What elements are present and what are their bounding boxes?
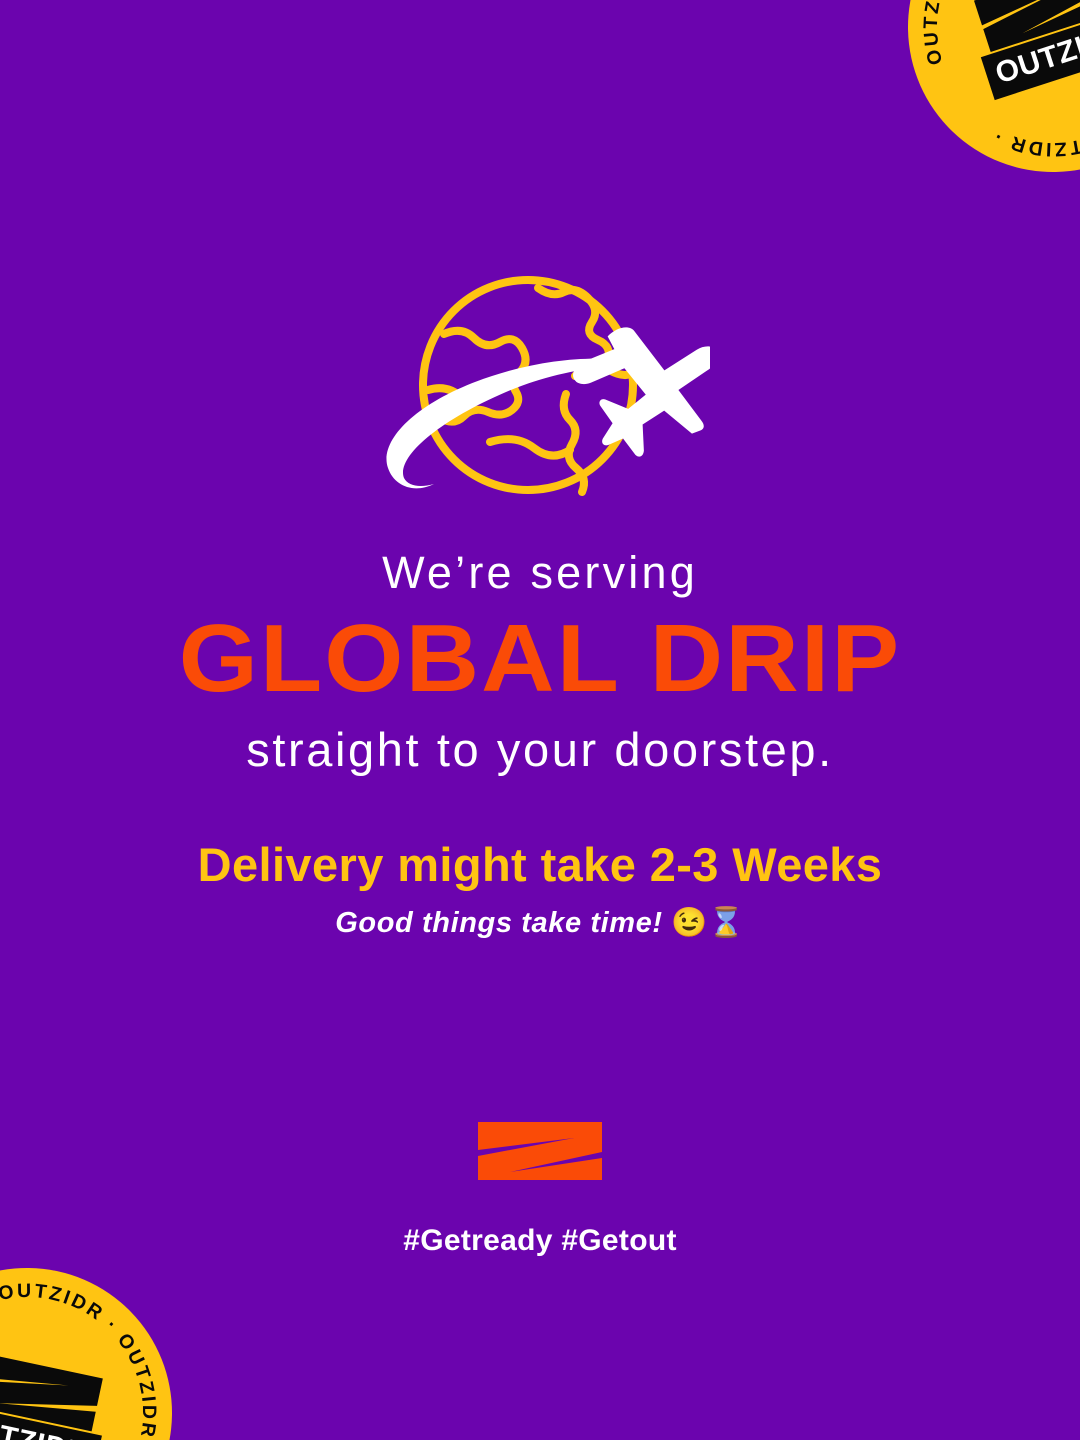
- wink-hourglass-emoji: 😉⌛: [671, 907, 744, 939]
- copy-line-serving: We’re serving: [0, 548, 1080, 598]
- promo-poster: OUTZIDR · OUTZIDR · OUTZIDR · OUTZIDR · …: [0, 0, 1080, 1440]
- brand-tagline: #Getready #Getout: [403, 1224, 677, 1258]
- globe-with-airplane-icon: [0, 272, 1080, 502]
- outzidr-z-logo-icon: [476, 1120, 604, 1210]
- outzidr-badge-bottom-left: OUTZIDR · OUTZIDR · OUTZIDR · OUTZIDR · …: [0, 1241, 199, 1440]
- delivery-subnote-text: Good things take time!: [335, 907, 662, 939]
- page-title: GLOBAL DRIP: [0, 608, 1080, 710]
- copy-line-doorstep: straight to your doorstep.: [0, 724, 1080, 777]
- outzidr-badge-top-right: OUTZIDR · OUTZIDR · OUTZIDR · OUTZIDR · …: [870, 0, 1080, 210]
- delivery-subnote: Good things take time! 😉⌛: [0, 906, 1080, 941]
- footer-brand-block: #Getready #Getout: [0, 1120, 1080, 1258]
- delivery-notice: Delivery might take 2-3 Weeks: [0, 839, 1080, 891]
- poster-copy-block: We’re serving GLOBAL DRIP straight to yo…: [0, 548, 1080, 941]
